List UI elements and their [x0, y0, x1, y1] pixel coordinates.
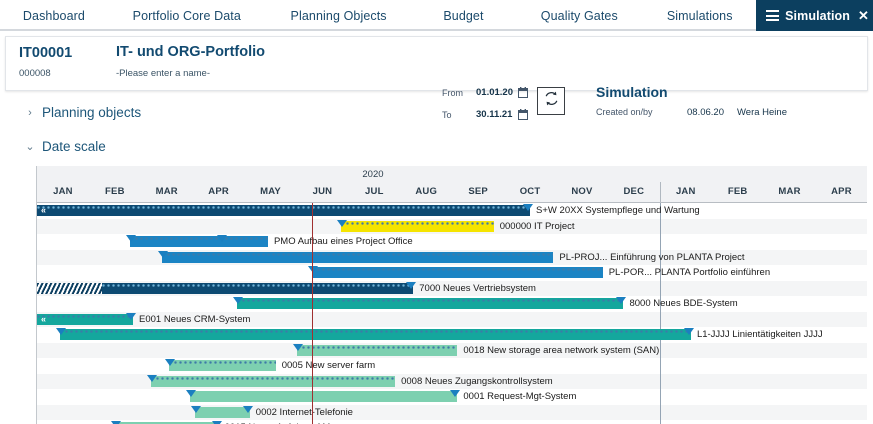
- gantt-timescale-header: 2020JANFEBMARAPRMAYJUNJULAUGSEPOCTNOVDEC…: [37, 166, 867, 203]
- tab-list: Dashboard Portfolio Core Data Planning O…: [0, 0, 873, 31]
- gantt-bar-label: L1-JJJJ Linientätigkeiten JJJJ: [697, 329, 823, 341]
- chevron-right-icon[interactable]: ›: [22, 107, 38, 119]
- tab-simulation-active[interactable]: Simulation ✕: [756, 0, 873, 31]
- gantt-end-milestone-icon[interactable]: [126, 313, 136, 320]
- gantt-start-milestone-icon[interactable]: [56, 328, 66, 335]
- gantt-bar[interactable]: [190, 391, 457, 402]
- tab-simulations[interactable]: Simulations: [643, 0, 756, 31]
- gantt-start-milestone-icon[interactable]: [293, 344, 303, 351]
- application-window: Dashboard Portfolio Core Data Planning O…: [0, 0, 873, 424]
- page-title: IT- und ORG-Portfolio: [116, 44, 265, 60]
- section-label: Date scale: [42, 139, 106, 154]
- close-icon[interactable]: ✕: [858, 8, 869, 24]
- gantt-scroll-left-icon[interactable]: «: [41, 206, 45, 215]
- gantt-month-label-oct-9: OCT: [504, 186, 556, 197]
- tab-label: Simulations: [667, 9, 733, 23]
- gantt-bar-label: 0005 New server farm: [282, 360, 375, 372]
- gantt-month-label-nov-10: NOV: [556, 186, 608, 197]
- gantt-bar-label: E001 Neues CRM-System: [139, 314, 250, 326]
- gantt-bar-fill: [190, 391, 457, 402]
- tab-label: Simulation: [785, 9, 850, 23]
- gantt-bar-progress-dots: [37, 315, 133, 318]
- gantt-start-milestone-icon[interactable]: [186, 390, 196, 397]
- gantt-row[interactable]: [37, 405, 867, 421]
- gantt-bar-progress-dots: [169, 361, 275, 364]
- gantt-scroll-left-icon[interactable]: «: [41, 315, 45, 324]
- gantt-bar-progress-dots: [162, 253, 554, 256]
- created-label: Created on/by: [596, 107, 653, 117]
- gantt-bar-label: 0018 New storage area network system (SA…: [463, 345, 659, 357]
- gantt-bar-progress-dots: [130, 237, 268, 240]
- gantt-grid-body[interactable]: «S+W 20XX Systempflege und Wartung000000…: [37, 203, 867, 424]
- gantt-year-divider: [660, 203, 661, 424]
- tab-label: Portfolio Core Data: [133, 9, 241, 23]
- gantt-bar-label: 000000 IT Project: [500, 221, 575, 233]
- portfolio-header-panel: IT00001 000008 IT- und ORG-Portfolio -Pl…: [5, 36, 868, 91]
- gantt-month-label-jan-12: JAN: [660, 186, 712, 197]
- gantt-chart[interactable]: 2020JANFEBMARAPRMAYJUNJULAUGSEPOCTNOVDEC…: [36, 166, 867, 424]
- gantt-bar-label: PMO Aufbau eines Project Office: [274, 236, 413, 248]
- tab-label: Planning Objects: [291, 9, 387, 23]
- portfolio-name-placeholder: -Please enter a name-: [116, 68, 210, 79]
- gantt-month-label-apr-3: APR: [193, 186, 245, 197]
- gantt-start-milestone-icon[interactable]: [308, 266, 318, 273]
- simulation-title: Simulation: [596, 84, 668, 100]
- gantt-end-milestone-icon[interactable]: [406, 282, 416, 289]
- gantt-mid-milestone-icon[interactable]: [217, 235, 227, 242]
- chevron-down-icon[interactable]: ⌄: [22, 140, 38, 153]
- gantt-end-milestone-icon[interactable]: [243, 406, 253, 413]
- hamburger-icon[interactable]: [766, 8, 779, 24]
- portfolio-id: IT00001: [19, 45, 72, 61]
- gantt-end-milestone-icon[interactable]: [450, 390, 460, 397]
- gantt-start-milestone-icon[interactable]: [147, 375, 157, 382]
- gantt-bar[interactable]: [237, 298, 624, 309]
- gantt-end-milestone-icon[interactable]: [616, 297, 626, 304]
- tab-label: Budget: [443, 9, 483, 23]
- tab-budget[interactable]: Budget: [412, 0, 516, 31]
- gantt-bar-hatch: [37, 283, 102, 294]
- gantt-month-label-jun-5: JUN: [297, 186, 349, 197]
- created-by: Wera Heine: [737, 107, 787, 118]
- section-label: Planning objects: [42, 105, 141, 120]
- gantt-bar-progress-dots: [297, 346, 458, 349]
- gantt-bar-label: 0002 Internet-Telefonie: [256, 407, 353, 419]
- from-label: From: [442, 88, 463, 98]
- gantt-month-label-sep-8: SEP: [452, 186, 504, 197]
- gantt-year-label: 2020: [362, 169, 383, 180]
- gantt-start-milestone-icon[interactable]: [233, 297, 243, 304]
- created-date: 08.06.20: [687, 107, 724, 118]
- gantt-header-year-divider: [660, 182, 661, 202]
- gantt-month-label-aug-7: AUG: [400, 186, 452, 197]
- gantt-bar[interactable]: [341, 221, 494, 232]
- gantt-bar[interactable]: [169, 360, 275, 371]
- gantt-bar[interactable]: [297, 345, 458, 356]
- gantt-bar[interactable]: [60, 329, 691, 340]
- gantt-bar-label: 8000 Neues BDE-System: [629, 298, 737, 310]
- gantt-end-milestone-icon[interactable]: [684, 328, 694, 335]
- gantt-month-label-feb-1: FEB: [89, 186, 141, 197]
- gantt-month-label-mar-14: MAR: [764, 186, 816, 197]
- tab-dashboard[interactable]: Dashboard: [0, 0, 108, 31]
- from-value[interactable]: 01.01.20: [476, 87, 513, 98]
- calendar-icon[interactable]: [518, 87, 528, 98]
- section-planning-objects[interactable]: › Planning objects: [22, 105, 141, 120]
- refresh-button[interactable]: [537, 87, 565, 115]
- gantt-row[interactable]: [37, 358, 867, 374]
- gantt-month-label-jan-0: JAN: [37, 186, 89, 197]
- tab-planning-objects[interactable]: Planning Objects: [266, 0, 412, 31]
- portfolio-id-sub: 000008: [19, 68, 51, 79]
- refresh-icon: [543, 90, 560, 112]
- gantt-bar-label: 0008 Neues Zugangskontrollsystem: [401, 376, 553, 388]
- gantt-bar-fill: [195, 407, 249, 418]
- gantt-bar[interactable]: [151, 376, 395, 387]
- gantt-today-line: [312, 203, 313, 424]
- gantt-bar-progress-dots: [237, 299, 624, 302]
- section-date-scale[interactable]: ⌄ Date scale: [22, 139, 106, 154]
- gantt-bar[interactable]: [162, 252, 554, 263]
- gantt-start-milestone-icon[interactable]: [191, 406, 201, 413]
- gantt-month-label-feb-13: FEB: [712, 186, 764, 197]
- gantt-bar-label: 7000 Neues Vertriebsystem: [419, 283, 536, 295]
- gantt-bar-progress-dots: [341, 222, 494, 225]
- tab-portfolio-core-data[interactable]: Portfolio Core Data: [108, 0, 266, 31]
- gantt-bar-progress-dots: [151, 377, 395, 380]
- gantt-bar[interactable]: [37, 283, 413, 294]
- gantt-bar[interactable]: [37, 205, 530, 216]
- gantt-bar[interactable]: [312, 267, 603, 278]
- gantt-month-label-apr-15: APR: [816, 186, 868, 197]
- to-label: To: [442, 110, 452, 120]
- gantt-bar-label: S+W 20XX Systempflege und Wartung: [536, 205, 700, 217]
- to-value[interactable]: 30.11.21: [476, 109, 512, 120]
- gantt-start-milestone-icon[interactable]: [337, 220, 347, 227]
- gantt-bar-label: PL-PROJ... Einführung von PLANTA Project: [559, 252, 744, 264]
- gantt-start-milestone-icon[interactable]: [158, 251, 168, 258]
- gantt-end-milestone-icon[interactable]: [523, 204, 533, 211]
- tab-bar: Dashboard Portfolio Core Data Planning O…: [0, 0, 873, 31]
- tab-quality-gates[interactable]: Quality Gates: [515, 0, 643, 31]
- tab-label: Dashboard: [23, 9, 85, 23]
- gantt-bar-progress-dots: [37, 206, 530, 209]
- gantt-month-label-jul-6: JUL: [348, 186, 400, 197]
- gantt-month-label-mar-2: MAR: [141, 186, 193, 197]
- tab-label: Quality Gates: [541, 9, 618, 23]
- gantt-bar[interactable]: [37, 314, 133, 325]
- gantt-bar-progress-dots: [60, 330, 691, 333]
- gantt-bar[interactable]: [130, 236, 268, 247]
- gantt-month-label-may-4: MAY: [245, 186, 297, 197]
- gantt-bar-label: PL-POR... PLANTA Portfolio einführen: [609, 267, 770, 279]
- gantt-month-label-dec-11: DEC: [608, 186, 660, 197]
- gantt-start-milestone-icon[interactable]: [126, 235, 136, 242]
- gantt-bar-progress-dots: [312, 268, 603, 271]
- gantt-bar-label: 0001 Request-Mgt-System: [463, 391, 576, 403]
- gantt-start-milestone-icon[interactable]: [165, 359, 175, 366]
- gantt-bar[interactable]: [195, 407, 249, 418]
- calendar-icon[interactable]: [518, 109, 528, 120]
